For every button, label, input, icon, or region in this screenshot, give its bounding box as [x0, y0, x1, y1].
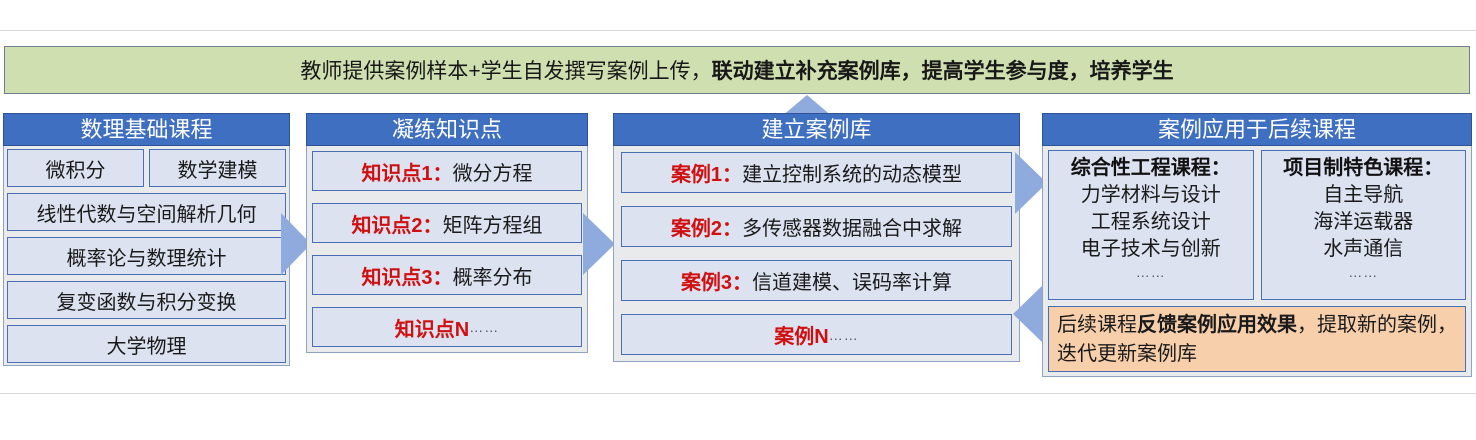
knowledge-point-n-label: 知识点N	[395, 313, 469, 342]
case-2-value: 多传感器数据融合中求解	[742, 212, 962, 241]
case-1-label: 案例1：	[671, 158, 742, 187]
subbox-comprehensive-line-2: 工程系统设计	[1091, 209, 1211, 236]
banner-part-plain: 教师提供案例样本+学生自发撰写案例上传，	[300, 60, 711, 83]
subbox-project-dots: ……	[1348, 263, 1378, 281]
case-n-dots: ……	[829, 327, 859, 343]
column-body-case-application: 综合性工程课程： 力学材料与设计 工程系统设计 电子技术与创新 …… 项目制特色…	[1042, 146, 1472, 377]
knowledge-point-2-value: 矩阵方程组	[443, 209, 543, 238]
knowledge-point-2[interactable]: 知识点2：矩阵方程组	[312, 203, 582, 243]
bottom-divider-rule	[0, 393, 1476, 394]
subbox-project-line-1: 自主导航	[1323, 182, 1403, 209]
case-n-label: 案例N	[774, 320, 828, 349]
subbox-comprehensive-line-3: 电子技术与创新	[1081, 236, 1221, 263]
case-3-label: 案例3：	[681, 266, 752, 295]
column-header-case-library: 建立案例库	[613, 113, 1020, 146]
knowledge-point-3-label: 知识点3：	[361, 261, 452, 290]
knowledge-point-n[interactable]: 知识点N……	[312, 307, 582, 347]
column-knowledge-points: 凝练知识点 知识点1：微分方程 知识点2：矩阵方程组 知识点3：概率分布 知识点…	[306, 113, 588, 353]
knowledge-point-1-label: 知识点1：	[361, 157, 452, 186]
column-header-knowledge-points: 凝练知识点	[306, 113, 588, 146]
column-case-application: 案例应用于后续课程 综合性工程课程： 力学材料与设计 工程系统设计 电子技术与创…	[1042, 113, 1472, 377]
feedback-part-bold: 反馈案例应用效果	[1137, 314, 1297, 336]
column-body-math-foundation: 微积分 数学建模 线性代数与空间解析几何 概率论与数理统计 复变函数与积分变换 …	[3, 146, 290, 366]
subbox-project-line-3: 水声通信	[1323, 236, 1403, 263]
summary-banner: 教师提供案例样本+学生自发撰写案例上传，联动建立补充案例库，提高学生参与度，培养…	[4, 46, 1470, 94]
course-row-pair: 微积分 数学建模	[7, 149, 286, 187]
case-2-label: 案例2：	[671, 212, 742, 241]
column-body-case-library: 案例1：建立控制系统的动态模型 案例2：多传感器数据融合中求解 案例3：信道建模…	[613, 146, 1020, 362]
subbox-comprehensive-title: 综合性工程课程：	[1071, 155, 1231, 182]
case-n[interactable]: 案例N……	[621, 314, 1012, 355]
subbox-project-based[interactable]: 项目制特色课程： 自主导航 海洋运载器 水声通信 ……	[1261, 150, 1467, 300]
summary-banner-text: 教师提供案例样本+学生自发撰写案例上传，联动建立补充案例库，提高学生参与度，培养…	[300, 55, 1173, 85]
case-1-value: 建立控制系统的动态模型	[742, 158, 962, 187]
course-cell-linear-algebra[interactable]: 线性代数与空间解析几何	[7, 193, 286, 231]
course-cell-university-physics[interactable]: 大学物理	[7, 325, 286, 363]
knowledge-point-1-value: 微分方程	[453, 157, 533, 186]
case-1[interactable]: 案例1：建立控制系统的动态模型	[621, 152, 1012, 193]
feedback-note-box[interactable]: 后续课程反馈案例应用效果，提取新的案例，迭代更新案例库	[1048, 306, 1466, 372]
column-math-foundation: 数理基础课程 微积分 数学建模 线性代数与空间解析几何 概率论与数理统计 复变函…	[3, 113, 290, 366]
case-2[interactable]: 案例2：多传感器数据融合中求解	[621, 206, 1012, 247]
column-header-case-application: 案例应用于后续课程	[1042, 113, 1472, 146]
feedback-part-1: 后续课程	[1057, 314, 1137, 336]
column-header-math-foundation: 数理基础课程	[3, 113, 290, 146]
application-subbox-row: 综合性工程课程： 力学材料与设计 工程系统设计 电子技术与创新 …… 项目制特色…	[1048, 150, 1466, 300]
subbox-project-line-2: 海洋运载器	[1313, 209, 1413, 236]
subbox-project-title: 项目制特色课程：	[1283, 155, 1443, 182]
subbox-comprehensive-engineering[interactable]: 综合性工程课程： 力学材料与设计 工程系统设计 电子技术与创新 ……	[1048, 150, 1254, 300]
column-body-knowledge-points: 知识点1：微分方程 知识点2：矩阵方程组 知识点3：概率分布 知识点N……	[306, 146, 588, 353]
course-cell-math-modeling[interactable]: 数学建模	[149, 149, 286, 187]
knowledge-point-3-value: 概率分布	[453, 261, 533, 290]
course-cell-calculus[interactable]: 微积分	[7, 149, 144, 187]
subbox-comprehensive-dots: ……	[1136, 263, 1166, 281]
knowledge-point-n-dots: ……	[469, 319, 499, 335]
knowledge-point-3[interactable]: 知识点3：概率分布	[312, 255, 582, 295]
column-case-library: 建立案例库 案例1：建立控制系统的动态模型 案例2：多传感器数据融合中求解 案例…	[613, 113, 1020, 362]
knowledge-point-1[interactable]: 知识点1：微分方程	[312, 151, 582, 191]
banner-part-bold-1: 联动建立补充案例库，提高学生参与度，培养学生	[712, 60, 1174, 83]
top-divider-rule	[0, 30, 1476, 31]
arrow-col2-to-col3-icon	[583, 213, 615, 275]
course-cell-complex-analysis[interactable]: 复变函数与积分变换	[7, 281, 286, 319]
case-3[interactable]: 案例3：信道建模、误码率计算	[621, 260, 1012, 301]
course-cell-probability[interactable]: 概率论与数理统计	[7, 237, 286, 275]
knowledge-point-2-label: 知识点2：	[351, 209, 442, 238]
subbox-comprehensive-line-1: 力学材料与设计	[1081, 182, 1221, 209]
case-3-value: 信道建模、误码率计算	[752, 266, 952, 295]
